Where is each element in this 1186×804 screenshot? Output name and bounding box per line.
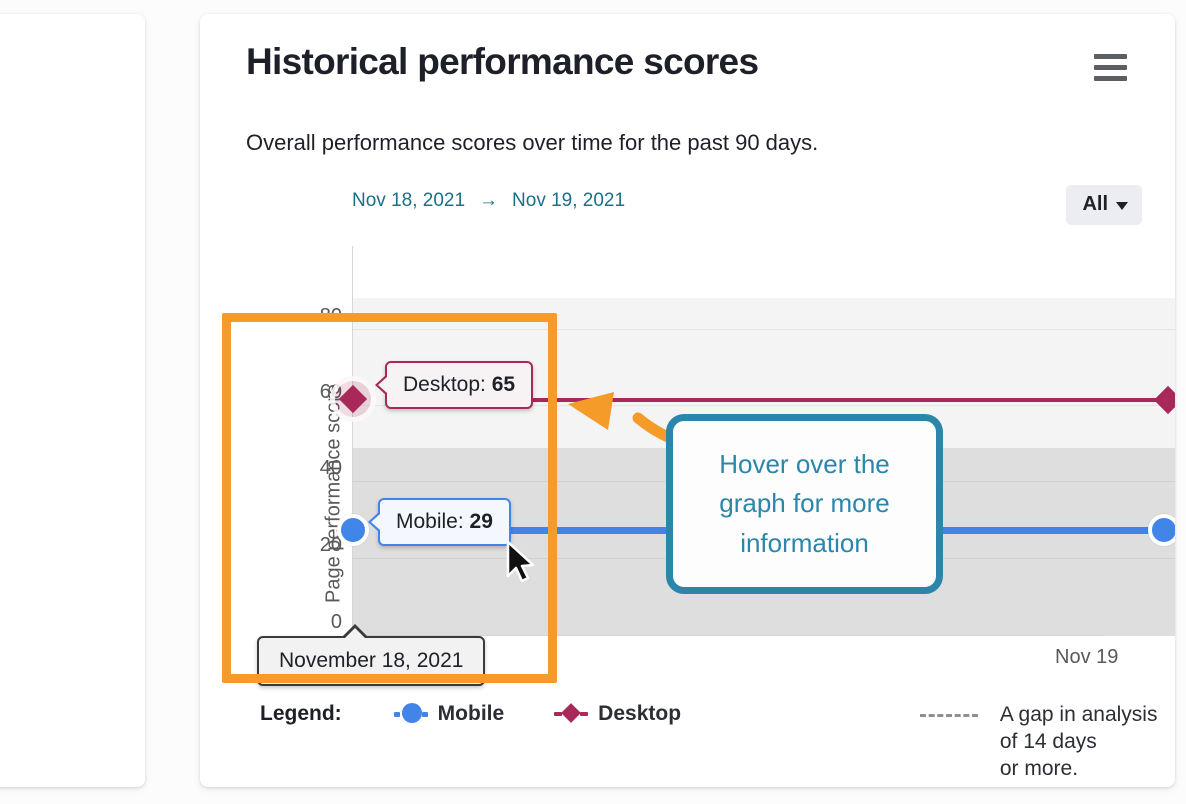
diamond-marker-icon [554, 703, 588, 725]
legend-item-mobile-label: Mobile [438, 702, 505, 726]
legend-label: Legend: [260, 702, 342, 726]
hover-hint-text: Hover over the graph for more informatio… [691, 445, 918, 564]
gap-note-line2: or more. [1000, 756, 1175, 783]
tooltip-date-notch-inner [344, 628, 366, 639]
tooltip-desktop-notch-inner [378, 377, 387, 393]
mouse-pointer-icon [505, 540, 539, 584]
tooltip-mobile-value: 29 [470, 510, 493, 533]
chevron-down-icon [1116, 202, 1128, 210]
tooltip-date-text: November 18, 2021 [279, 649, 463, 672]
date-range-row: Nov 18, 2021 → Nov 19, 2021 [352, 190, 625, 212]
x-tick-nov-19: Nov 19 [1055, 646, 1118, 669]
band-good [352, 246, 1175, 298]
legend-item-desktop[interactable]: Desktop [554, 702, 681, 726]
end-date-link[interactable]: Nov 19, 2021 [512, 190, 625, 212]
page-subtitle: Overall performance scores over time for… [246, 130, 818, 156]
gap-note: A gap in analysis of 14 days or more. [920, 702, 1175, 783]
y-axis-line [352, 246, 353, 636]
hamburger-bar-1 [1094, 54, 1127, 59]
tooltip-hover-date: November 18, 2021 [257, 636, 485, 686]
screen-root: es d s. p nce Historical performance sco… [0, 0, 1186, 804]
gridline-80 [352, 329, 1175, 330]
filter-all-label: All [1082, 193, 1108, 216]
legend-item-desktop-label: Desktop [598, 702, 681, 726]
range-arrow-icon: → [479, 190, 498, 212]
filter-all-dropdown[interactable]: All [1066, 185, 1142, 225]
y-axis-label-wrap: Page performance score [286, 302, 310, 562]
gap-note-line1: A gap in analysis of 14 days [1000, 702, 1175, 756]
page-title: Historical performance scores [246, 41, 758, 83]
tooltip-mobile: Mobile: 29 [378, 498, 511, 546]
hover-hint-callout: Hover over the graph for more informatio… [666, 414, 943, 594]
hamburger-icon[interactable] [1094, 54, 1127, 81]
tooltip-mobile-notch-inner [371, 514, 380, 530]
left-adjacent-card: es d s. p nce [0, 14, 145, 787]
hamburger-bar-3 [1094, 76, 1127, 81]
chart-legend: Legend: Mobile Desktop [260, 702, 731, 726]
tooltip-mobile-label: Mobile: [396, 510, 464, 533]
hamburger-bar-2 [1094, 65, 1127, 70]
gap-note-text: A gap in analysis of 14 days or more. [1000, 702, 1175, 783]
start-date-link[interactable]: Nov 18, 2021 [352, 190, 465, 212]
hover-marker-mobile[interactable] [337, 514, 369, 546]
tooltip-desktop: Desktop: 65 [385, 361, 533, 409]
circle-marker-icon [394, 703, 428, 725]
series-marker-mobile-end[interactable] [1148, 514, 1175, 546]
legend-item-mobile[interactable]: Mobile [394, 702, 505, 726]
tooltip-desktop-label: Desktop: [403, 373, 486, 396]
tooltip-desktop-value: 65 [492, 373, 515, 396]
dashed-line-icon [920, 714, 978, 717]
